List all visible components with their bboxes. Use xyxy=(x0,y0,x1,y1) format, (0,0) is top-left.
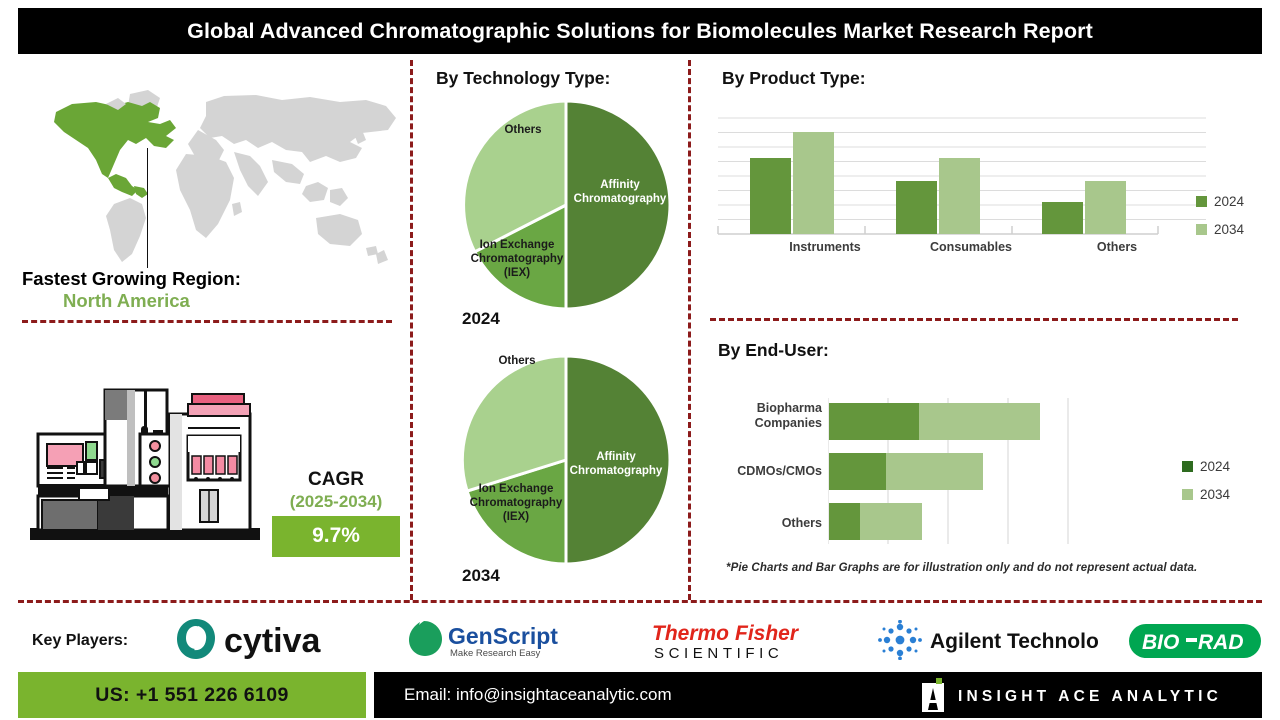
enduser-cat-biopharma: Biopharma Companies xyxy=(700,401,822,431)
infographic-page: Global Advanced Chromatographic Solution… xyxy=(0,0,1280,720)
page-title: Global Advanced Chromatographic Solution… xyxy=(187,19,1093,44)
fastest-region-value: North America xyxy=(63,290,190,312)
logo-cytiva[interactable]: cytiva xyxy=(174,616,350,662)
divider-vertical-right xyxy=(688,60,691,600)
pie-2034-label-iex: Ion Exchange Chromatography (IEX) xyxy=(462,482,570,524)
cagr-years: (2025-2034) xyxy=(272,491,400,512)
fastest-region-label: Fastest Growing Region: xyxy=(22,268,241,290)
svg-text:Make Research Easy: Make Research Easy xyxy=(450,648,541,659)
logo-thermofisher[interactable]: Thermo Fisher SCIENTIFIC xyxy=(652,620,830,662)
chromatography-instrument-icon xyxy=(22,372,272,557)
enduser-cat-cdmo: CDMOs/CMOs xyxy=(690,464,822,479)
legend-item-2034: 2034 xyxy=(1182,487,1230,502)
product-section-title: By Product Type: xyxy=(722,68,866,89)
svg-text:GenScript: GenScript xyxy=(448,623,558,649)
enduser-chart-legend: 2024 2034 xyxy=(1182,459,1230,515)
logo-biorad[interactable]: BIO RAD xyxy=(1128,622,1262,660)
email-address: Email: info@insightaceanalytic.com xyxy=(404,685,672,705)
enduser-bar-chart xyxy=(828,398,1098,544)
svg-text:Agilent Technologies: Agilent Technologies xyxy=(930,630,1098,653)
divider-vertical-left xyxy=(410,60,413,600)
legend-item-2024: 2024 xyxy=(1196,194,1244,209)
product-cat-consumables: Consumables xyxy=(886,240,1056,254)
legend-item-2024: 2024 xyxy=(1182,459,1230,474)
phone-bar[interactable]: US: +1 551 226 6109 xyxy=(18,672,366,718)
divider-horizontal-left xyxy=(22,320,392,323)
cagr-value: 9.7% xyxy=(272,516,400,557)
divider-horizontal-bottom xyxy=(18,600,1262,603)
svg-text:BIO: BIO xyxy=(1142,631,1179,654)
product-cat-others: Others xyxy=(1032,240,1202,254)
legend-swatch-2024 xyxy=(1182,461,1193,472)
pie-2024-year: 2024 xyxy=(462,309,500,329)
legend-item-2034: 2034 xyxy=(1196,222,1244,237)
pie-2024-label-others: Others xyxy=(488,123,558,137)
product-bar-chart xyxy=(710,112,1210,237)
brand-name: INSIGHT ACE ANALYTIC xyxy=(958,688,1222,706)
svg-text:cytiva: cytiva xyxy=(224,622,321,660)
cagr-title: CAGR xyxy=(272,470,400,491)
divider-horizontal-right xyxy=(710,318,1238,321)
legend-swatch-2034 xyxy=(1182,489,1193,500)
enduser-section-title: By End-User: xyxy=(718,340,829,361)
insightace-logo-icon xyxy=(916,678,950,712)
cagr-block: CAGR (2025-2034) 9.7% xyxy=(272,470,400,557)
svg-text:RAD: RAD xyxy=(1198,631,1244,654)
enduser-cat-others: Others xyxy=(700,516,822,531)
map-leader-line xyxy=(147,148,148,268)
legend-swatch-2024 xyxy=(1196,196,1207,207)
pie-2024-label-affinity: Affinity Chromatography xyxy=(572,178,668,206)
legend-swatch-2034 xyxy=(1196,224,1207,235)
key-players-label: Key Players: xyxy=(32,632,128,650)
legend-label-2024: 2024 xyxy=(1200,459,1230,474)
svg-text:SCIENTIFIC: SCIENTIFIC xyxy=(654,645,783,662)
world-map xyxy=(10,78,410,273)
svg-text:Fisher: Fisher xyxy=(735,622,800,645)
pie-2034-year: 2034 xyxy=(462,566,500,586)
logo-genscript[interactable]: GenScript Make Research Easy xyxy=(404,618,596,662)
page-title-bar: Global Advanced Chromatographic Solution… xyxy=(18,8,1262,54)
logo-agilent[interactable]: Agilent Technologies xyxy=(872,620,1098,660)
legend-label-2034: 2034 xyxy=(1214,222,1244,237)
pie-2034-label-others: Others xyxy=(482,354,552,368)
pie-2024-label-iex: Ion Exchange Chromatography (IEX) xyxy=(464,238,570,280)
legend-label-2034: 2034 xyxy=(1200,487,1230,502)
phone-number: US: +1 551 226 6109 xyxy=(95,684,289,707)
svg-text:Thermo: Thermo xyxy=(652,622,729,645)
technology-section-title: By Technology Type: xyxy=(436,68,610,89)
product-cat-instruments: Instruments xyxy=(740,240,910,254)
product-chart-legend: 2024 2034 xyxy=(1196,194,1244,250)
pie-2034-label-affinity: Affinity Chromatography xyxy=(562,450,670,478)
legend-label-2024: 2024 xyxy=(1214,194,1244,209)
chart-footnote: *Pie Charts and Bar Graphs are for illus… xyxy=(726,562,1197,574)
